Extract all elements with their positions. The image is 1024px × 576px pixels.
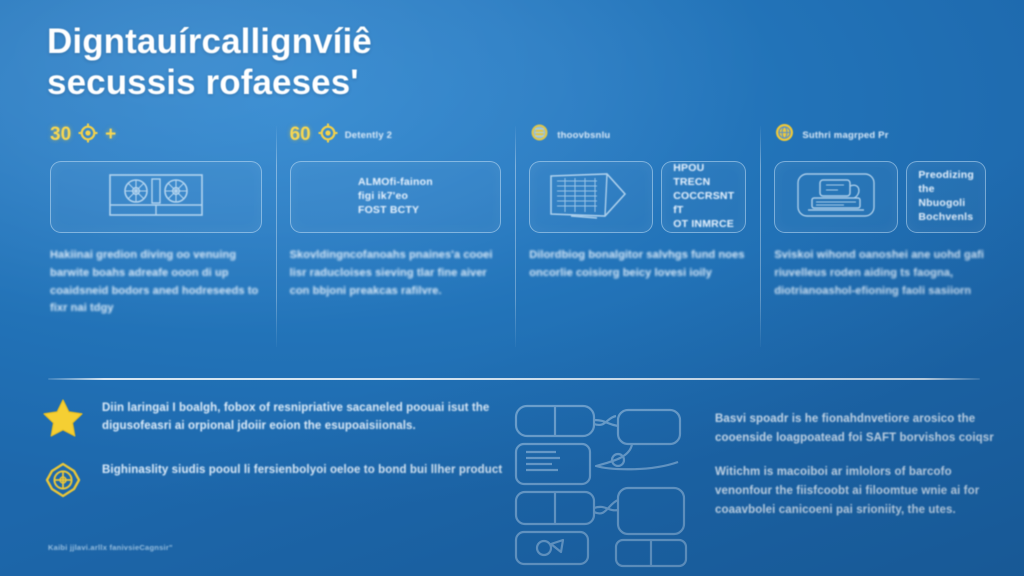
bottom-right-section: Basvi spoadr is he fionahdnvetiore arosi… <box>510 396 998 566</box>
icon-frame-4 <box>774 161 898 233</box>
text-frame-3: HPOU TRECN COCCRSNT fT OT INMRCE <box>661 161 746 233</box>
title-line-2: secussis rofaeses' <box>47 63 747 104</box>
badge-row-1: 30 + <box>50 120 262 150</box>
frame-text-3-line-2: COCCRSNT fT <box>673 190 734 218</box>
frame-text-3-line-1: HPOU TRECN <box>673 162 734 190</box>
feature-column-2: 60 Detently 2 ALMOfi-fai <box>276 120 516 365</box>
frame-text-3-line-3: OT INMRCE <box>673 218 734 232</box>
badge-label-3: thoovbsnlu <box>557 130 610 141</box>
star-icon <box>40 396 86 440</box>
icon-frame-1 <box>50 161 262 233</box>
text-frame-2: ALMOfi-fainon figi ik7'eo FOST BCTY <box>290 161 502 233</box>
column-body-4: Sviskoi wihond oanoshei ane uohd gafi ri… <box>774 247 986 300</box>
footnote: Kaibi jjlavi.arllx fanivsieCagnsir" <box>48 543 173 552</box>
badge-row-3: thoovbsnlu <box>529 120 746 150</box>
feature-columns: 30 + <box>36 120 1000 365</box>
frame-text-2-line-1: ALMOfi-fainon <box>358 176 433 190</box>
gear-badge-icon <box>78 123 98 148</box>
bottom-section: Diin laringai I boalgh, fobox of resnipr… <box>40 396 998 566</box>
frames-4: Preodizing the Nbuogoli Bochvenls <box>774 161 986 233</box>
frame-text-2: ALMOfi-fainon figi ik7'eo FOST BCTY <box>358 176 433 218</box>
bottom-right-paragraph-2: Witichm is macoiboi ar imlolors of barco… <box>715 463 998 519</box>
frame-text-3: HPOU TRECN COCCRSNT fT OT INMRCE <box>673 162 734 231</box>
section-divider <box>48 378 980 380</box>
bullet-item: Diin laringai I boalgh, fobox of resnipr… <box>40 396 510 440</box>
feature-column-3: thoovbsnlu <box>515 120 760 365</box>
badge-suffix-1: + <box>105 124 116 146</box>
badge-row-4: Suthri magrped Pr <box>774 120 986 150</box>
bullet-text-2: Bighinaslity siudis pooul li fersienboly… <box>102 458 502 479</box>
badge-row-2: 60 Detently 2 <box>290 120 502 150</box>
document-chart-icon <box>541 168 641 227</box>
text-frame-4: Preodizing the Nbuogoli Bochvenls <box>906 161 986 233</box>
title-line-1: Digntauírcallignvíiê <box>47 22 372 61</box>
bullet-item: Bighinaslity siudis pooul li fersienboly… <box>40 458 510 502</box>
bottom-right-paragraph-1: Basvi spoadr is he fionahdnvetiore arosi… <box>715 410 998 447</box>
icon-frame-3 <box>529 161 653 233</box>
bottom-left-bullets: Diin laringai I boalgh, fobox of resnipr… <box>40 396 510 566</box>
rosette-badge-icon <box>529 122 550 148</box>
frames-2: ALMOfi-fainon figi ik7'eo FOST BCTY <box>290 161 502 233</box>
bottom-right-text: Basvi spoadr is he fionahdnvetiore arosi… <box>715 396 998 566</box>
reel-machine-icon <box>104 169 208 226</box>
frame-text-2-line-2: figi ik7'eo <box>358 190 433 204</box>
frame-text-2-line-3: FOST BCTY <box>358 204 433 218</box>
column-body-3: Dilordbiog bonalgitor salvhgs fund noes … <box>529 247 746 283</box>
column-body-2: Skovldingncofanoahs pnaines'a cooei lisr… <box>290 247 502 300</box>
globe-badge-icon <box>774 122 795 148</box>
frame-text-4-line-1: Preodizing the <box>918 169 974 197</box>
globe-medallion-icon <box>40 458 86 502</box>
badge-number-1: 30 <box>50 124 71 146</box>
gear-badge-icon <box>318 123 338 148</box>
frames-1 <box>50 161 262 233</box>
infographic-poster: Digntauírcallignvíiê secussis rofaeses' … <box>0 0 1024 576</box>
bullet-text-1: Diin laringai I boalgh, fobox of resnipr… <box>102 396 510 436</box>
page-title: Digntauírcallignvíiê secussis rofaeses' <box>47 22 747 103</box>
badge-number-2: 60 <box>290 124 311 146</box>
frame-text-4-line-3: Bochvenls <box>918 211 974 225</box>
workflow-diagram-art <box>510 396 705 566</box>
feature-column-1: 30 + <box>36 120 276 365</box>
frame-text-4-line-2: Nbuogoli <box>918 197 974 211</box>
press-machine-icon <box>788 168 884 227</box>
frame-text-4: Preodizing the Nbuogoli Bochvenls <box>918 169 974 224</box>
column-body-1: Hakiinai gredion diving oo venuing barwi… <box>50 247 262 318</box>
frames-3: HPOU TRECN COCCRSNT fT OT INMRCE <box>529 161 746 233</box>
badge-label-4: Suthri magrped Pr <box>802 130 888 141</box>
badge-label-2: Detently 2 <box>345 130 392 141</box>
feature-column-4: Suthri magrped Pr <box>760 120 1000 365</box>
